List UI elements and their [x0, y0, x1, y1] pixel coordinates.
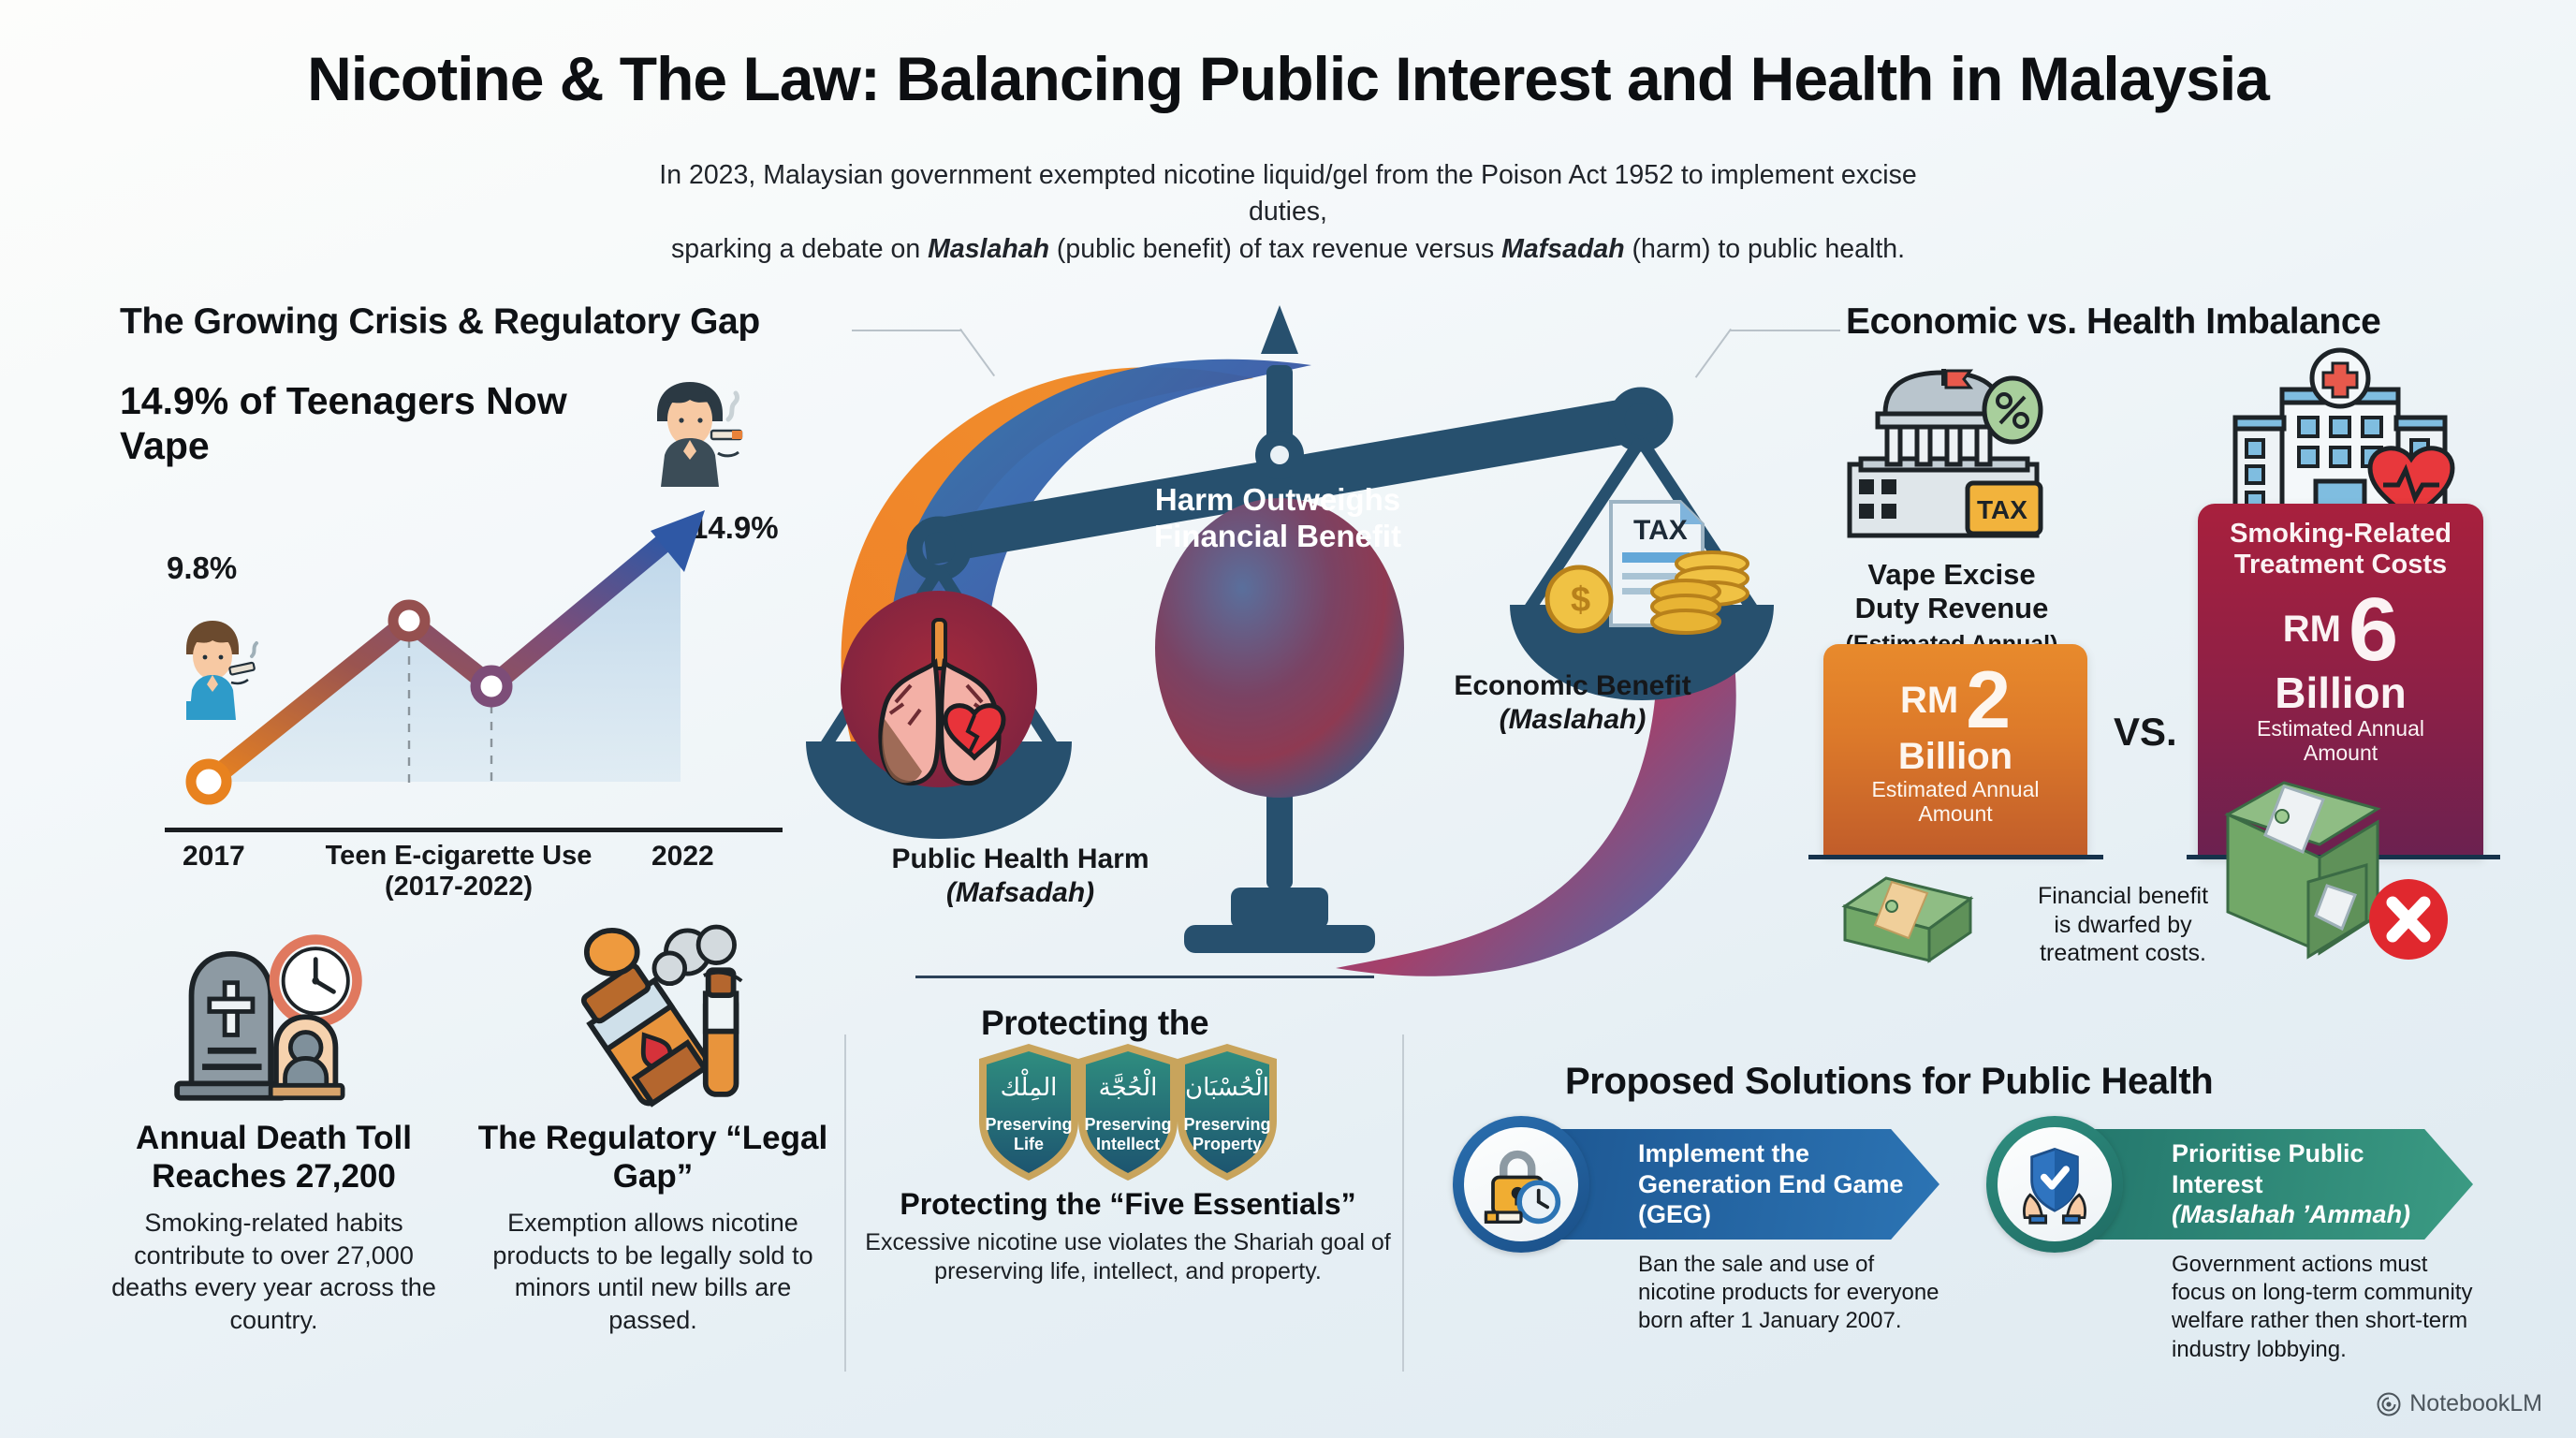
teen-vape-line-chart	[164, 510, 782, 829]
shield-preserving-property: الْحُسْبَان Preserving Property	[1172, 1041, 1282, 1183]
teen-smoker-icon	[629, 361, 751, 489]
five-essentials-subtitle: Protecting the “Five Essentials”	[847, 1187, 1409, 1222]
page-title: Nicotine & The Law: Balancing Public Int…	[0, 43, 2576, 114]
padlock-clock-cigarette-icon	[1479, 1142, 1563, 1226]
chart-x-axis	[165, 828, 783, 832]
solution-title-public-interest: Prioritise Public Interest (Maslahah ’Am…	[2172, 1138, 2410, 1229]
shield-row: المِلْك Preserving Life الْحُجَّة Preser…	[847, 1041, 1409, 1183]
solution-banner-geg: Implement the Generation End Game (GEG)	[1535, 1129, 1939, 1240]
svg-text:TAX: TAX	[1977, 495, 2027, 524]
treatment-card-title: Smoking-Related Treatment Costs	[2198, 519, 2483, 581]
vape-amount: 2	[1966, 664, 2011, 738]
solution-icon-wrap-geg	[1453, 1116, 1589, 1253]
five-essentials-body: Excessive nicotine use violates the Shar…	[847, 1228, 1409, 1287]
scale-left-pan-label: Public Health Harm (Mafsadah)	[824, 843, 1217, 910]
svg-text:$: $	[1571, 580, 1590, 620]
vape-revenue-card: RM 2 Billion Estimated Annual Amount	[1823, 644, 2087, 855]
government-building-tax-icon: TAX	[1837, 369, 2052, 547]
vape-unit: Billion	[1823, 738, 2087, 775]
treatment-amount: 6	[2349, 589, 2398, 671]
right-pan-term: (Maslahah)	[1500, 704, 1647, 735]
protect-divider-top	[915, 976, 1374, 978]
solution-card-geg[interactable]: Implement the Generation End Game (GEG) …	[1453, 1123, 1939, 1245]
stat-card-title: Annual Death Toll Reaches 27,200	[94, 1120, 454, 1196]
vape-label-line1: Vape Excise	[1867, 558, 2035, 591]
solution-banner-public-interest: Prioritise Public Interest (Maslahah ’Am…	[2069, 1129, 2473, 1240]
subtitle-end: (harm) to public health.	[1625, 234, 1905, 264]
shield-arabic-3: الْحُسْبَان	[1185, 1068, 1269, 1102]
watermark-label: NotebookLM	[2409, 1390, 2542, 1417]
five-essentials-block: المِلْك Preserving Life الْحُجَّة Preser…	[847, 992, 1409, 1287]
chart-xtick-2017: 2017	[183, 841, 245, 873]
scale-center-label: Harm Outweighs Financial Benefit	[1147, 482, 1409, 555]
term-maslahah: Maslahah	[928, 234, 1049, 264]
subtitle-line-2-pre: sparking a debate on	[671, 234, 928, 264]
left-pan-title: Public Health Harm	[891, 844, 1149, 874]
shield-label-3a: Preserving	[1183, 1115, 1270, 1134]
page-subtitle: In 2023, Malaysian government exempted n…	[633, 157, 1943, 268]
stat-card-body: Smoking-related habits contribute to ove…	[94, 1207, 454, 1336]
vape-label-line2: Duty Revenue	[1855, 592, 2049, 624]
infographic-canvas: Nicotine & The Law: Balancing Public Int…	[0, 0, 2576, 1438]
solution-desc-geg: Ban the sale and use of nicotine product…	[1638, 1251, 1947, 1336]
right-pan-title: Economic Benefit	[1454, 670, 1690, 701]
section-heading-left: The Growing Crisis & Regulatory Gap	[120, 301, 760, 343]
protect-divider-left	[844, 1034, 846, 1372]
section-heading-right: Economic vs. Health Imbalance	[1846, 301, 2380, 343]
cash-stack-small-icon	[1837, 869, 1978, 955]
treatment-note: Estimated Annual Amount	[2198, 717, 2483, 766]
stat-card-body: Exemption allows nicotine products to be…	[473, 1207, 833, 1336]
scale-right-pan-label: Economic Benefit (Maslahah)	[1376, 669, 1769, 737]
solution-card-public-interest[interactable]: Prioritise Public Interest (Maslahah ’Am…	[1986, 1123, 2482, 1245]
left-pan-term: (Mafsadah)	[946, 877, 1094, 908]
teen-vape-stat-headline: 14.9% of Teenagers Now Vape	[120, 378, 625, 469]
subtitle-mid: (public benefit) of tax revenue versus	[1049, 234, 1501, 264]
subtitle-line-1: In 2023, Malaysian government exempted n…	[659, 160, 1916, 227]
stat-card-title: The Regulatory “Legal Gap”	[473, 1120, 833, 1196]
financial-benefit-caption: Financial benefit is dwarfed by treatmen…	[2029, 882, 2217, 968]
shield-label-2a: Preserving	[1084, 1115, 1171, 1134]
shield-arabic-2: الْحُجَّة	[1099, 1068, 1158, 1102]
gravestone-clock-icon	[94, 891, 454, 1107]
solution-icon-wrap-public-interest	[1986, 1116, 2123, 1253]
nicotine-bottle-vape-icon	[473, 891, 833, 1107]
treatment-unit: Billion	[2198, 671, 2483, 714]
shield-label-3b: Property	[1193, 1135, 1262, 1153]
shield-preserving-intellect: الْحُجَّة Preserving Intellect	[1073, 1041, 1183, 1183]
red-cross-x-icon	[2368, 878, 2449, 961]
shield-preserving-life: المِلْك Preserving Life	[973, 1041, 1084, 1183]
hands-shield-check-icon	[2012, 1142, 2097, 1226]
term-mafsadah: Mafsadah	[1501, 234, 1624, 264]
shield-label-2b: Intellect	[1096, 1135, 1160, 1153]
notebooklm-watermark: NotebookLM	[2377, 1390, 2542, 1417]
chart-xtick-2022: 2022	[651, 841, 714, 873]
stat-card-legal-gap: The Regulatory “Legal Gap” Exemption all…	[473, 891, 833, 1336]
vape-note: Estimated Annual Amount	[1823, 778, 2087, 827]
stat-card-death-toll: Annual Death Toll Reaches 27,200 Smoking…	[94, 891, 454, 1336]
solution-title-geg: Implement the Generation End Game (GEG)	[1638, 1138, 1939, 1229]
chart-caption-line1: Teen E-cigarette Use	[326, 841, 593, 871]
shield-label-1b: Life	[1014, 1135, 1044, 1153]
notebooklm-logo-icon	[2377, 1392, 2401, 1416]
shield-arabic-1: المِلْك	[1001, 1068, 1058, 1102]
solutions-heading: Proposed Solutions for Public Health	[1565, 1061, 2213, 1103]
vs-label: VS.	[2114, 710, 2177, 755]
treatment-currency: RM	[2283, 609, 2341, 651]
shield-label-1a: Preserving	[985, 1115, 1072, 1134]
revenue-baseline	[1808, 855, 2103, 859]
vape-currency: RM	[1900, 680, 1958, 722]
tax-document-label: TAX	[1633, 515, 1688, 546]
solution-desc-public-interest: Government actions must focus on long-te…	[2172, 1251, 2481, 1364]
